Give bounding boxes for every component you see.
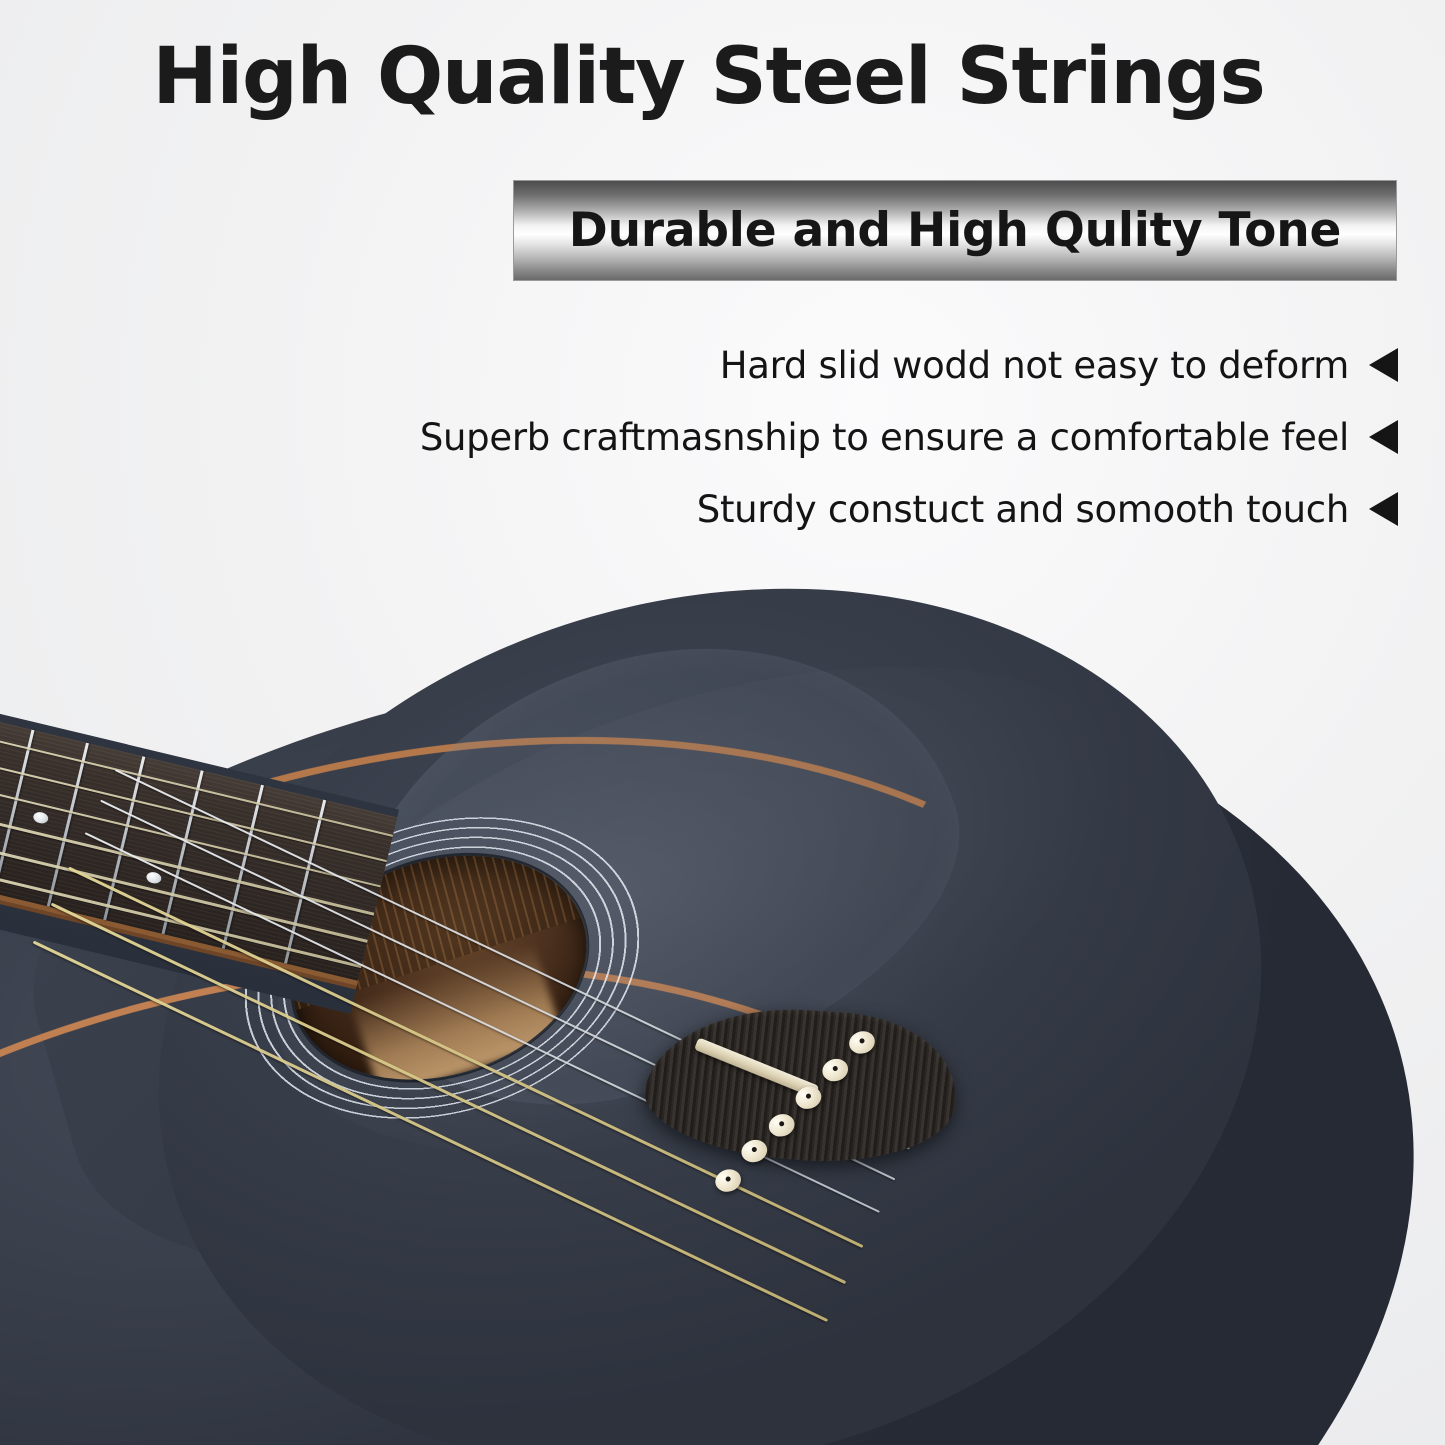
subtitle-banner: Durable and High Qulity Tone bbox=[513, 180, 1397, 281]
feature-list: Hard slid wodd not easy to deform Superb… bbox=[0, 340, 1398, 556]
left-triangle-icon bbox=[1369, 420, 1398, 454]
guitar-bridge-pin bbox=[712, 1166, 744, 1195]
feature-item-label: Superb craftmasnship to ensure a comfort… bbox=[420, 416, 1349, 459]
feature-item-label: Sturdy constuct and somooth touch bbox=[697, 488, 1349, 531]
guitar-fret-inlay-dot bbox=[32, 811, 49, 825]
guitar-fret bbox=[0, 730, 34, 894]
feature-item: Hard slid wodd not easy to deform bbox=[0, 340, 1398, 390]
feature-item-label: Hard slid wodd not easy to deform bbox=[720, 344, 1349, 387]
feature-item: Sturdy constuct and somooth touch bbox=[0, 484, 1398, 534]
product-image-canvas: High Quality Steel Strings Durable and H… bbox=[0, 0, 1445, 1445]
subtitle-banner-text: Durable and High Qulity Tone bbox=[569, 203, 1341, 258]
left-triangle-icon bbox=[1369, 492, 1398, 526]
feature-item: Superb craftmasnship to ensure a comfort… bbox=[0, 412, 1398, 462]
left-triangle-icon bbox=[1369, 348, 1398, 382]
page-title: High Quality Steel Strings bbox=[0, 38, 1417, 116]
